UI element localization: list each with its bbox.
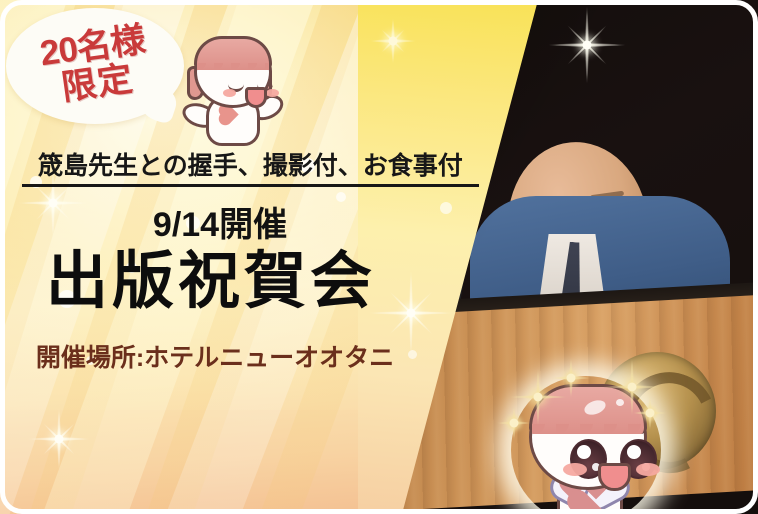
badge-line-2: 限定 <box>59 61 135 107</box>
mascot-hair-highlight-small <box>616 399 624 406</box>
promo-banner-card: 20名様 限定 <box>0 0 758 514</box>
limited-seats-badge: 20名様 限定 <box>6 8 184 124</box>
mascot-bottom <box>505 372 670 514</box>
event-date-text: 9/14開催 <box>0 197 470 246</box>
mascot-hair <box>194 36 272 70</box>
page-title: 出版祝賀会 <box>0 248 470 316</box>
promo-text-block: 筬島先生との握手、撮影付、お食事付 9/14開催 出版祝賀会 開催場所:ホテルニ… <box>0 150 470 374</box>
mascot-blush-right <box>636 463 660 476</box>
mascot-blush-right <box>266 89 279 97</box>
mascot-head <box>194 36 272 108</box>
mascot-head <box>529 384 647 490</box>
subtitle-text: 筬島先生との握手、撮影付、お食事付 <box>22 150 479 187</box>
mascot-blush-left <box>563 463 587 476</box>
venue-text: 開催場所:ホテルニューオオタニ <box>0 338 470 374</box>
mascot-top <box>176 26 282 138</box>
mascot-mouth <box>245 87 267 108</box>
mascot-blush-left <box>223 89 236 97</box>
